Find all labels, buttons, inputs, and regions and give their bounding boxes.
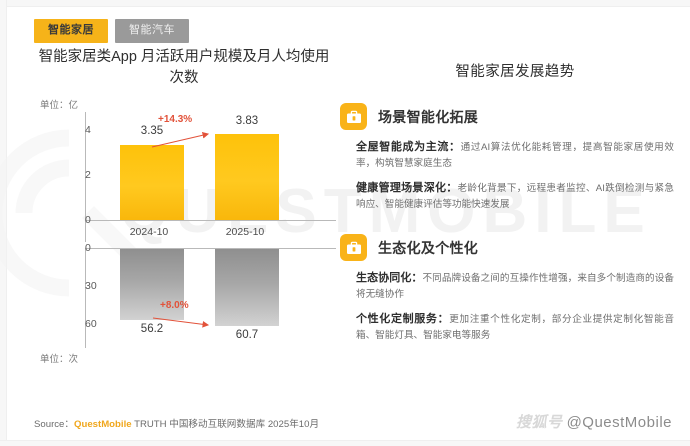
mau-growth-arrow: [40, 112, 336, 242]
left-chart-panel: 智能家居类App 月活跃用户规模及月人均使用次数 单位：亿 单位：次 0 2 4…: [20, 44, 340, 389]
trend-section-2-point-1: 生态协同化：不同品牌设备之间的互操作性增强，来自多个制造商的设备将无缝协作: [356, 271, 674, 302]
toolbox-icon: [340, 103, 367, 130]
trend-section-1-point-2-term: 健康管理场景深化：: [356, 182, 458, 194]
credit-handle: @QuestMobile: [567, 414, 672, 431]
account-credit: 搜狐号@QuestMobile: [516, 411, 672, 432]
mau-category-2025-10: 2025-10: [200, 226, 290, 238]
mau-category-2024-10: 2024-10: [104, 226, 194, 238]
usage-bar-chart: 0 30 60 56.2 60.7 +8.0%: [40, 248, 336, 348]
trend-section-1-title: 场景智能化拓展: [378, 107, 478, 127]
trend-section-1-point-2: 健康管理场景深化：老龄化背景下，远程患者监控、AI跌倒检测与紧急响应、智能健康评…: [356, 181, 674, 212]
right-trends-panel: 智能家居发展趋势 场景智能化拓展 全屋智能成为主流：通过AI算法优化能耗管理，提…: [356, 44, 674, 343]
toolbox-icon: [340, 234, 367, 261]
source-footer: Source：QuestMobile TRUTH 中国移动互联网数据库 2025…: [34, 416, 319, 430]
mau-bar-chart: 0 2 4 3.35 3.83 +14.3% 2024-10 2025-10: [40, 112, 336, 242]
category-tabs[interactable]: 智能家居 智能汽车: [34, 19, 189, 43]
trend-section-2-point-2: 个性化定制服务：更加注重个性化定制，部分企业提供定制化智能音箱、智能灯具、智能家…: [356, 312, 674, 343]
credit-badge: 搜狐号: [516, 414, 563, 431]
trend-section-2-header: 生态化及个性化: [340, 234, 674, 261]
tab-smart-car[interactable]: 智能汽车: [115, 19, 189, 43]
source-prefix: Source：: [34, 419, 74, 430]
trend-section-1-point-1-term: 全屋智能成为主流：: [356, 141, 461, 153]
source-brand: QuestMobile: [74, 419, 132, 430]
trends-panel-title: 智能家居发展趋势: [356, 60, 674, 81]
unit-label-bottom: 单位：次: [40, 351, 78, 365]
trend-section-1: 场景智能化拓展 全屋智能成为主流：通过AI算法优化能耗管理，提高智能家居使用效率…: [356, 103, 674, 212]
trend-section-2: 生态化及个性化 生态协同化：不同品牌设备之间的互操作性增强，来自多个制造商的设备…: [356, 234, 674, 343]
slide-top-edge: [0, 0, 690, 7]
trend-section-2-point-2-term: 个性化定制服务：: [356, 313, 449, 325]
trend-section-1-header: 场景智能化拓展: [340, 103, 674, 130]
trend-section-2-title: 生态化及个性化: [378, 238, 478, 258]
chart-panel-title: 智能家居类App 月活跃用户规模及月人均使用次数: [38, 47, 330, 89]
usage-growth-arrow: [40, 248, 336, 348]
slide-canvas: QUESTMOBILE 智能家居 智能汽车 智能家居类App 月活跃用户规模及月…: [0, 0, 690, 446]
slide-left-edge: [0, 0, 7, 446]
trend-section-2-point-1-term: 生态协同化：: [356, 272, 423, 284]
tab-smart-home[interactable]: 智能家居: [34, 19, 108, 43]
slide-bottom-edge: [0, 440, 690, 446]
trend-section-1-point-1: 全屋智能成为主流：通过AI算法优化能耗管理，提高智能家居使用效率，构筑智慧家庭生…: [356, 140, 674, 171]
source-suffix: TRUTH 中国移动互联网数据库 2025年10月: [134, 419, 319, 430]
unit-label-top: 单位：亿: [40, 97, 78, 111]
